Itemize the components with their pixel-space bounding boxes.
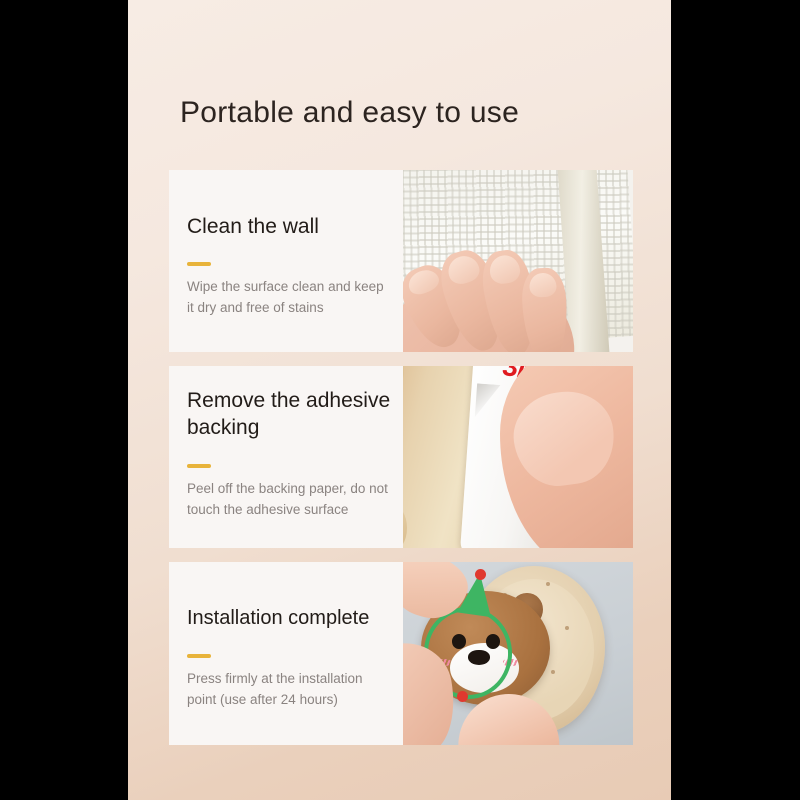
screenshot-canvas: Portable and easy to use Clean the wall … [0,0,800,800]
step-2-title: Remove the adhesive backing [187,388,395,442]
letterbox-bar-left [0,0,128,800]
hook-lobe-4 [403,504,407,548]
step-1-text-panel: Clean the wall Wipe the surface clean an… [169,170,403,352]
page-title: Portable and easy to use [180,96,519,130]
fingernail-2 [444,253,481,287]
letterbox-bar-right [671,0,800,800]
step-1-accent-rule [187,262,211,266]
step-card-1: Clean the wall Wipe the surface clean an… [169,170,633,352]
strap-bead [457,691,468,702]
step-2-text-panel: Remove the adhesive backing Peel off the… [169,366,403,548]
backing-tab-peeled-corner [475,383,501,418]
step-2-accent-rule [187,464,211,468]
step-3-photo-pressing-hook [403,562,633,745]
fingernail-1 [404,266,441,298]
fingernail-3 [488,254,522,286]
step-1-photo-hand-wiping-wall [403,170,633,352]
step-card-3: Installation complete Press firmly at th… [169,562,633,745]
step-3-accent-rule [187,654,211,658]
hook-lobe-1 [403,366,404,392]
step-2-description: Peel off the backing paper, do not touch… [187,478,393,521]
step-card-2: Remove the adhesive backing Peel off the… [169,366,633,548]
step-1-description: Wipe the surface clean and keep it dry a… [187,276,393,319]
product-infographic-poster: Portable and easy to use Clean the wall … [128,0,671,800]
step-3-text-panel: Installation complete Press firmly at th… [169,562,403,745]
step-2-photo-peeling-backing: 3M 3M [403,366,633,548]
step-3-description: Press firmly at the installation point (… [187,668,393,711]
step-1-title: Clean the wall [187,214,395,241]
step-3-title: Installation complete [187,606,395,632]
fingernail-4 [529,272,557,298]
thumbnail [508,385,620,491]
thumb [500,366,633,548]
